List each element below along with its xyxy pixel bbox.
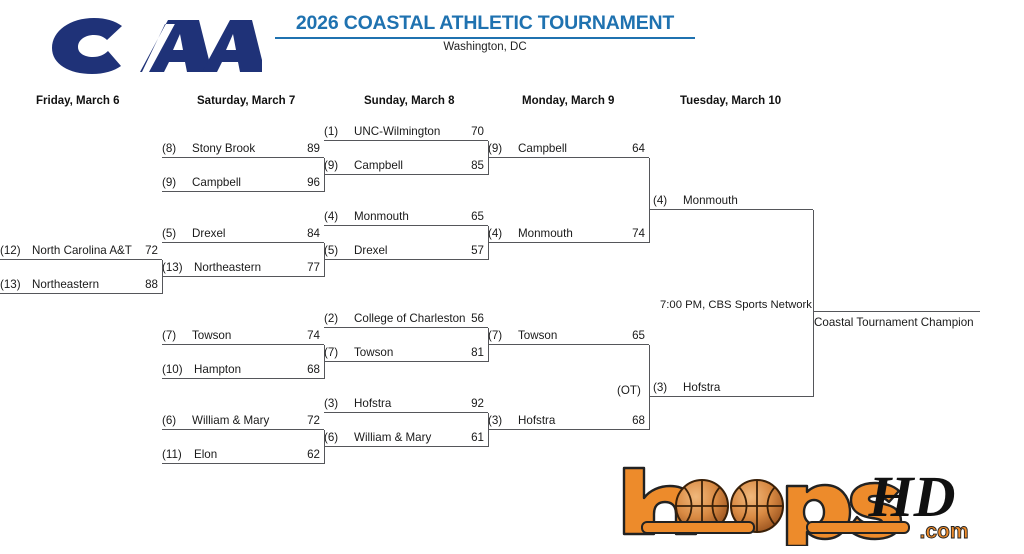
slot-score: 72 bbox=[307, 414, 320, 427]
slot-seed: (6) bbox=[324, 431, 354, 444]
slot-score: 88 bbox=[145, 278, 158, 291]
bracket-page: 2026 COASTAL ATHLETIC TOURNAMENT Washing… bbox=[0, 0, 1024, 554]
slot-score: 85 bbox=[471, 159, 484, 172]
slot-seed: (9) bbox=[324, 159, 354, 172]
slot-team: Monmouth bbox=[683, 194, 738, 207]
overtime-marker: (OT) bbox=[617, 384, 641, 397]
page-subtitle: Washington, DC bbox=[275, 41, 695, 53]
slot-seed: (4) bbox=[324, 210, 354, 223]
slot-seed: (7) bbox=[488, 329, 518, 342]
date-header-friday: Friday, March 6 bbox=[36, 95, 120, 107]
slot-team: William & Mary bbox=[192, 414, 269, 427]
slot-team: Monmouth bbox=[518, 227, 573, 240]
slot-score: 62 bbox=[307, 448, 320, 461]
slot-team: Hofstra bbox=[354, 397, 391, 410]
champion-line bbox=[814, 296, 980, 312]
slot-towson-r2[interactable]: (7) Towson 74 bbox=[162, 327, 324, 345]
slot-drexel-r2[interactable]: (5) Drexel 84 bbox=[162, 225, 324, 243]
slot-seed: (10) bbox=[162, 363, 194, 376]
slot-hampton[interactable]: (10) Hampton 68 bbox=[162, 361, 324, 379]
slot-team: Campbell bbox=[354, 159, 403, 172]
slot-seed: (3) bbox=[324, 397, 354, 410]
slot-seed: (3) bbox=[488, 414, 518, 427]
slot-score: 64 bbox=[632, 142, 645, 155]
connector-r1 bbox=[162, 260, 163, 294]
slot-team: Drexel bbox=[354, 244, 388, 257]
slot-seed: (7) bbox=[162, 329, 192, 342]
slot-elon[interactable]: (11) Elon 62 bbox=[162, 446, 324, 464]
slot-team: College of Charleston bbox=[354, 312, 466, 325]
slot-team: Towson bbox=[518, 329, 557, 342]
slot-team: Campbell bbox=[518, 142, 567, 155]
slot-score: 72 bbox=[145, 244, 158, 257]
slot-team: Monmouth bbox=[354, 210, 409, 223]
slot-team: Stony Brook bbox=[192, 142, 255, 155]
slot-seed: (4) bbox=[488, 227, 518, 240]
slot-seed: (2) bbox=[324, 312, 354, 325]
slot-score: 92 bbox=[471, 397, 484, 410]
slot-northeastern-r1[interactable]: (13) Northeastern 88 bbox=[0, 276, 162, 294]
slot-score: 89 bbox=[307, 142, 320, 155]
slot-stony-brook[interactable]: (8) Stony Brook 89 bbox=[162, 140, 324, 158]
slot-team: Northeastern bbox=[32, 278, 99, 291]
caa-logo bbox=[36, 4, 262, 82]
slot-seed: (4) bbox=[653, 194, 683, 207]
slot-team: UNC-Wilmington bbox=[354, 125, 440, 138]
slot-campbell-qf[interactable]: (9) Campbell 85 bbox=[324, 157, 488, 175]
broadcast-info: 7:00 PM, CBS Sports Network bbox=[660, 299, 812, 311]
slot-seed: (13) bbox=[0, 278, 32, 291]
slot-seed: (8) bbox=[162, 142, 192, 155]
slot-team: Towson bbox=[192, 329, 231, 342]
slot-monmouth-qf[interactable]: (4) Monmouth 65 bbox=[324, 208, 488, 226]
slot-college-charleston[interactable]: (2) College of Charleston 56 bbox=[324, 310, 488, 328]
slot-score: 57 bbox=[471, 244, 484, 257]
slot-hofstra-sf[interactable]: (3) Hofstra 68 bbox=[488, 412, 649, 430]
slot-team: Hofstra bbox=[518, 414, 555, 427]
slot-score: 81 bbox=[471, 346, 484, 359]
slot-team: Drexel bbox=[192, 227, 226, 240]
slot-score: 65 bbox=[471, 210, 484, 223]
slot-score: 84 bbox=[307, 227, 320, 240]
slot-campbell-sf[interactable]: (9) Campbell 64 bbox=[488, 140, 649, 158]
slot-team: Northeastern bbox=[194, 261, 261, 274]
slot-score: 96 bbox=[307, 176, 320, 189]
svg-text:.com: .com bbox=[919, 520, 968, 543]
slot-score: 61 bbox=[471, 431, 484, 444]
slot-seed: (3) bbox=[653, 381, 683, 394]
slot-seed: (6) bbox=[162, 414, 192, 427]
slot-hofstra-qf[interactable]: (3) Hofstra 92 bbox=[324, 395, 488, 413]
slot-towson-sf[interactable]: (7) Towson 65 bbox=[488, 327, 649, 345]
slot-seed: (1) bbox=[324, 125, 354, 138]
slot-team: Towson bbox=[354, 346, 393, 359]
slot-score: 56 bbox=[471, 312, 484, 325]
slot-campbell-r2[interactable]: (9) Campbell 96 bbox=[162, 174, 324, 192]
slot-team: William & Mary bbox=[354, 431, 431, 444]
date-header-saturday: Saturday, March 7 bbox=[197, 95, 295, 107]
slot-seed: (7) bbox=[324, 346, 354, 359]
date-header-tuesday: Tuesday, March 10 bbox=[680, 95, 781, 107]
slot-unc-wilmington[interactable]: (1) UNC-Wilmington 70 bbox=[324, 123, 488, 141]
date-header-sunday: Sunday, March 8 bbox=[364, 95, 455, 107]
date-header-monday: Monday, March 9 bbox=[522, 95, 614, 107]
slot-score: 70 bbox=[471, 125, 484, 138]
slot-monmouth-sf[interactable]: (4) Monmouth 74 bbox=[488, 225, 649, 243]
slot-team: North Carolina A&T bbox=[32, 244, 132, 257]
slot-team: Campbell bbox=[192, 176, 241, 189]
slot-team: Hofstra bbox=[683, 381, 720, 394]
slot-final-monmouth[interactable]: (4) Monmouth bbox=[649, 192, 813, 210]
slot-seed: (9) bbox=[488, 142, 518, 155]
slot-score: 68 bbox=[307, 363, 320, 376]
slot-seed: (9) bbox=[162, 176, 192, 189]
slot-seed: (5) bbox=[162, 227, 192, 240]
slot-score: 77 bbox=[307, 261, 320, 274]
slot-score: 68 bbox=[632, 414, 645, 427]
slot-seed: (5) bbox=[324, 244, 354, 257]
slot-score: 74 bbox=[307, 329, 320, 342]
slot-score: 65 bbox=[632, 329, 645, 342]
hoopshd-logo: HD .com bbox=[614, 462, 986, 546]
slot-score: 74 bbox=[632, 227, 645, 240]
slot-final-hofstra[interactable]: (3) Hofstra bbox=[649, 379, 813, 397]
slot-northeastern-r2[interactable]: (13) Northeastern 77 bbox=[162, 259, 324, 277]
slot-team: Hampton bbox=[194, 363, 241, 376]
slot-william-mary-r2[interactable]: (6) William & Mary 72 bbox=[162, 412, 324, 430]
slot-william-mary-qf[interactable]: (6) William & Mary 61 bbox=[324, 429, 488, 447]
slot-team: Elon bbox=[194, 448, 217, 461]
slot-seed: (13) bbox=[162, 261, 194, 274]
slot-drexel-qf[interactable]: (5) Drexel 57 bbox=[324, 242, 488, 260]
slot-nc-at[interactable]: (12) North Carolina A&T 72 bbox=[0, 242, 162, 260]
slot-seed: (12) bbox=[0, 244, 32, 257]
slot-seed: (11) bbox=[162, 448, 194, 461]
champion-label: Coastal Tournament Champion bbox=[814, 316, 974, 329]
page-title: 2026 COASTAL ATHLETIC TOURNAMENT bbox=[275, 12, 695, 39]
slot-towson-qf[interactable]: (7) Towson 81 bbox=[324, 344, 488, 362]
